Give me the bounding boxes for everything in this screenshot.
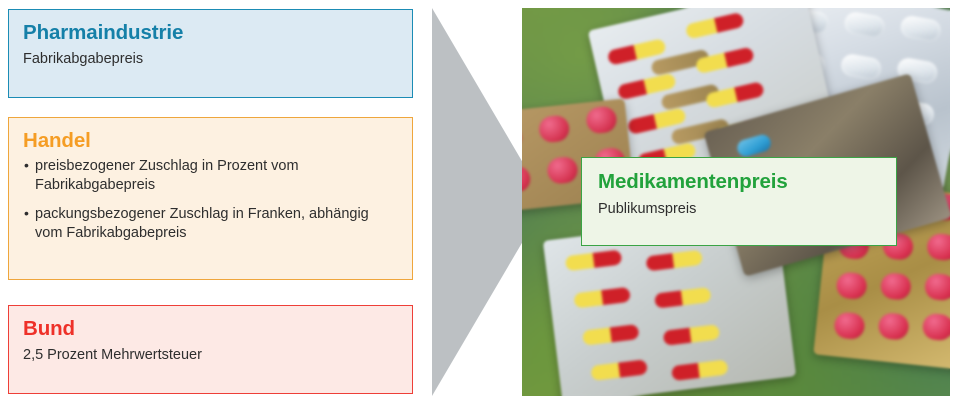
box-bund-subtitle: 2,5 Prozent Mehrwertsteuer (23, 346, 398, 366)
box-pharmaindustrie: Pharmaindustrie Fabrikabgabepreis (8, 9, 413, 98)
box-medikamentenpreis: Medikamentenpreis Publikumspreis (581, 157, 897, 246)
box-handel-title: Handel (23, 129, 398, 153)
box-medikamentenpreis-subtitle: Publikumspreis (598, 200, 880, 220)
box-pharmaindustrie-title: Pharmaindustrie (23, 21, 398, 45)
box-handel: Handel preisbezogener Zuschlag in Prozen… (8, 117, 413, 280)
list-item: preisbezogener Zuschlag in Prozent vom F… (23, 157, 398, 196)
diagram-canvas: Pharmaindustrie Fabrikabgabepreis Handel… (0, 0, 960, 404)
box-bund-title: Bund (23, 317, 398, 341)
box-bund: Bund 2,5 Prozent Mehrwertsteuer (8, 305, 413, 394)
box-handel-bullet-list: preisbezogener Zuschlag in Prozent vom F… (23, 157, 398, 243)
list-item: packungsbezogener Zuschlag in Franken, a… (23, 205, 398, 244)
box-pharmaindustrie-subtitle: Fabrikabgabepreis (23, 50, 398, 70)
box-medikamentenpreis-title: Medikamentenpreis (598, 170, 880, 194)
